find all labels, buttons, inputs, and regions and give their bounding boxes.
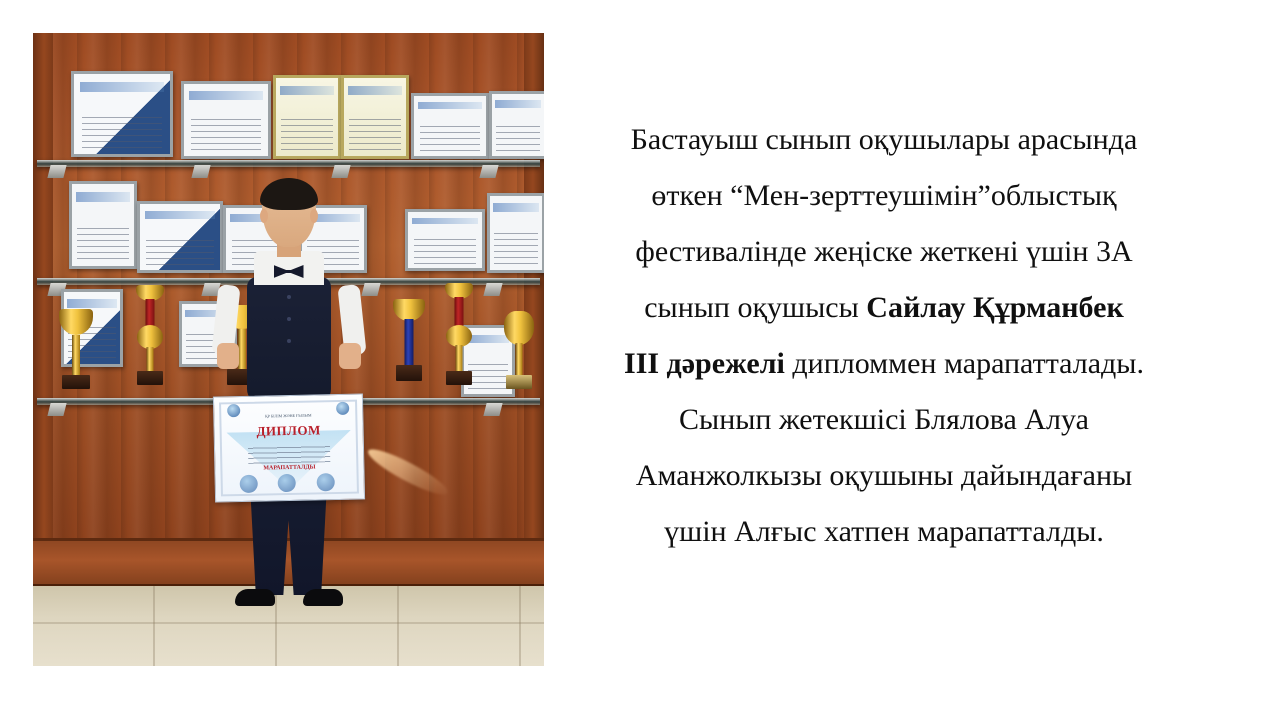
certificate-seal	[239, 474, 257, 492]
shelf-bracket	[479, 165, 498, 178]
certificate-seal	[316, 473, 334, 491]
photo-scene: ҚР БІЛІМ ЖӘНЕ ҒЫЛЫМ ДИПЛОМ МАРАПАТТАЛДЫ	[33, 33, 544, 666]
caption-line: үшін Алғыс хатпен марапатталды.	[588, 504, 1180, 560]
trophy	[55, 303, 97, 395]
caption-emphasis: III дәрежелі	[624, 347, 785, 380]
framed-diploma	[489, 91, 544, 159]
trophy	[499, 309, 539, 397]
caption-text: Бастауыш сынып оқушылары арасында	[631, 123, 1138, 156]
shelf-bracket	[483, 403, 502, 416]
caption-text-block: Бастауыш сынып оқушылары арасындаөткен “…	[588, 112, 1180, 560]
trophy	[437, 283, 481, 397]
ear-right	[310, 209, 318, 223]
student-figure: ҚР БІЛІМ ЖӘНЕ ҒЫЛЫМ ДИПЛОМ МАРАПАТТАЛДЫ	[229, 181, 349, 611]
caption-line: сынып оқушысы Сайлау Құрманбек	[588, 280, 1180, 336]
uniform-vest	[247, 277, 331, 405]
ear-left	[260, 209, 268, 223]
caption-text: үшін Алғыс хатпен марапатталды.	[664, 515, 1104, 548]
shoe-right	[303, 589, 343, 606]
shelf-bracket	[191, 165, 210, 178]
caption-line: III дәрежелі дипломмен марапатталады.	[588, 336, 1180, 392]
hair	[260, 178, 318, 210]
framed-diploma	[487, 193, 544, 273]
shelf-bracket	[483, 283, 502, 296]
hand-left	[217, 343, 239, 369]
framed-diploma	[405, 209, 485, 271]
shoe-left	[235, 589, 275, 606]
caption-text: дипломмен марапатталады.	[785, 347, 1144, 380]
hand-right	[339, 343, 361, 369]
trophy	[389, 297, 429, 397]
framed-diploma	[137, 201, 223, 273]
caption-line: Бастауыш сынып оқушылары арасында	[588, 112, 1180, 168]
shelf-bracket	[331, 165, 350, 178]
shelf-bracket	[47, 165, 66, 178]
slide-canvas: ҚР БІЛІМ ЖӘНЕ ҒЫЛЫМ ДИПЛОМ МАРАПАТТАЛДЫ …	[0, 0, 1280, 720]
caption-text: өткен “Мен-зерттеушімін”облыстық	[651, 179, 1116, 212]
caption-text: фестивалінде жеңіске жеткені үшін 3А	[635, 235, 1132, 268]
caption-text: сынып оқушысы	[644, 291, 866, 324]
shelf-bracket	[361, 283, 380, 296]
framed-diploma	[69, 181, 137, 269]
glass-shelf	[37, 160, 540, 167]
certificate-seal	[277, 474, 295, 492]
framed-diploma	[181, 81, 271, 159]
caption-line: фестивалінде жеңіске жеткені үшін 3А	[588, 224, 1180, 280]
caption-emphasis: Сайлау Құрманбек	[866, 291, 1123, 324]
caption-line: Аманжолкызы оқушыны дайындағаны	[588, 448, 1180, 504]
boy-holding-diploma-photo: ҚР БІЛІМ ЖӘНЕ ҒЫЛЫМ ДИПЛОМ МАРАПАТТАЛДЫ	[33, 33, 544, 666]
trophy	[129, 285, 171, 395]
caption-text: Сынып жетекшісі Блялова Алуа	[679, 403, 1089, 436]
shelf-bracket	[47, 403, 66, 416]
caption-text: Аманжолкызы оқушыны дайындағаны	[636, 459, 1132, 492]
caption-line: өткен “Мен-зерттеушімін”облыстық	[588, 168, 1180, 224]
framed-diploma	[71, 71, 173, 157]
framed-diploma	[341, 75, 409, 159]
certificate-title: ДИПЛОМ	[214, 421, 362, 440]
certificate-text-lines	[247, 443, 330, 463]
framed-diploma	[411, 93, 489, 159]
framed-diploma	[273, 75, 341, 159]
caption-line: Сынып жетекшісі Блялова Алуа	[588, 392, 1180, 448]
held-certificate: ҚР БІЛІМ ЖӘНЕ ҒЫЛЫМ ДИПЛОМ МАРАПАТТАЛДЫ	[212, 393, 364, 502]
